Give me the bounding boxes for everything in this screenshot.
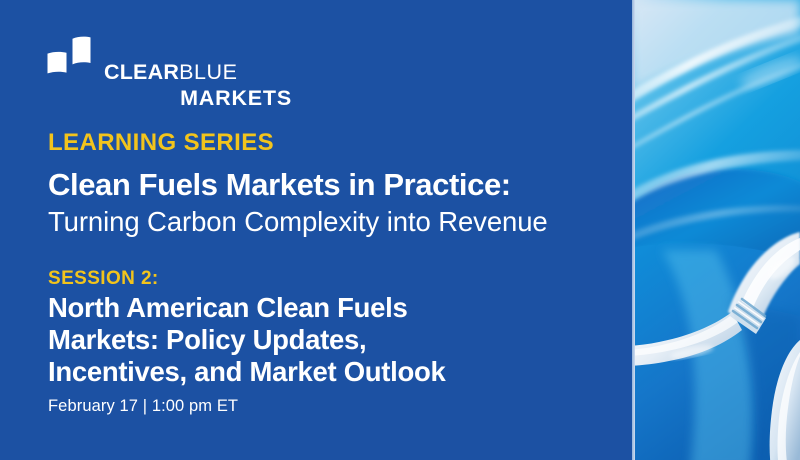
session-title: North American Clean Fuels Markets: Poli…	[48, 292, 446, 388]
left-text-panel: CLEARBLUE MARKETS LEARNING SERIES Clean …	[0, 0, 632, 460]
page-title: Clean Fuels Markets in Practice:	[48, 169, 511, 202]
session-title-line-3: Incentives, and Market Outlook	[48, 356, 446, 388]
logo-word-markets: MARKETS	[104, 88, 294, 110]
panel-divider	[632, 0, 635, 460]
logo-word-blue: BLUE	[179, 60, 238, 84]
session-title-line-2: Markets: Policy Updates,	[48, 324, 446, 356]
clearblue-pages-mark-icon	[46, 36, 98, 76]
learning-series-label: LEARNING SERIES	[48, 131, 274, 155]
logo-wordmark: CLEARBLUE MARKETS	[104, 62, 294, 110]
ev-charging-cable-photo	[632, 0, 800, 460]
clear-blue-markets-logo[interactable]: CLEARBLUE MARKETS	[46, 36, 296, 106]
event-datetime: February 17 | 1:00 pm ET	[48, 398, 238, 415]
logo-word-clear: CLEAR	[104, 60, 179, 84]
webinar-promo-banner: CLEARBLUE MARKETS LEARNING SERIES Clean …	[0, 0, 800, 460]
logo-wordmark-line1: CLEARBLUE	[104, 62, 294, 84]
session-title-line-1: North American Clean Fuels	[48, 292, 446, 324]
page-subtitle: Turning Carbon Complexity into Revenue	[48, 207, 548, 237]
session-number-label: SESSION 2:	[48, 269, 159, 288]
